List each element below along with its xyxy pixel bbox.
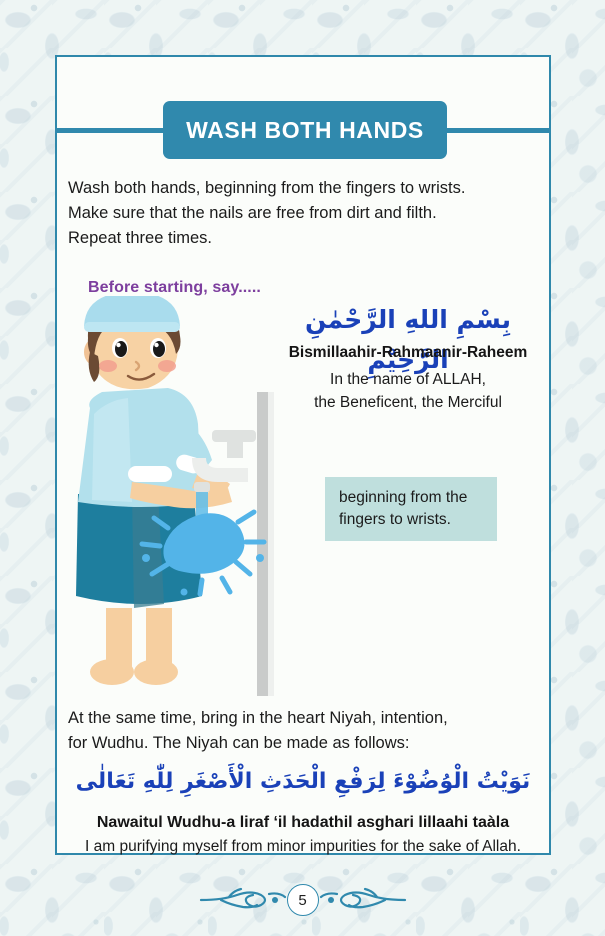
legs-and-feet	[90, 608, 178, 685]
niyah-intro-paragraph: At the same time, bring in the heart Niy…	[68, 706, 538, 756]
niyah-transliteration: Nawaitul Wudhu-a liraf ‘il hadathil asgh…	[55, 814, 551, 832]
bismillah-meaning: In the name of ALLAH, the Beneficent, th…	[268, 368, 548, 414]
page-number: 5	[298, 892, 306, 909]
intro-paragraph: Wash both hands, beginning from the fing…	[68, 176, 538, 251]
niyah-arabic-text: نَوَيْتُ الْوُضُوْءَ لِرَفْعِ الْحَدَثِ …	[68, 764, 538, 800]
callout-text: beginning from the fingers to wrists.	[339, 487, 467, 531]
before-starting-label: Before starting, say.....	[88, 279, 261, 297]
page-number-badge: 5	[287, 884, 319, 916]
flourish-right-icon	[315, 885, 407, 915]
callout-box: beginning from the fingers to wrists.	[325, 477, 497, 541]
illustration-boy-washing-hands	[72, 296, 302, 696]
page-title-banner: WASH BOTH HANDS	[163, 101, 447, 159]
niyah-meaning: I am purifying myself from minor impurit…	[55, 838, 551, 856]
page-root: WASH BOTH HANDS Wash both hands, beginni…	[0, 0, 605, 936]
page-title: WASH BOTH HANDS	[186, 117, 424, 144]
page-footer: 5	[0, 876, 605, 924]
bismillah-transliteration: Bismillaahir-Rahmaanir-Raheem	[268, 344, 548, 362]
head	[84, 296, 181, 389]
flourish-left-icon	[199, 885, 291, 915]
